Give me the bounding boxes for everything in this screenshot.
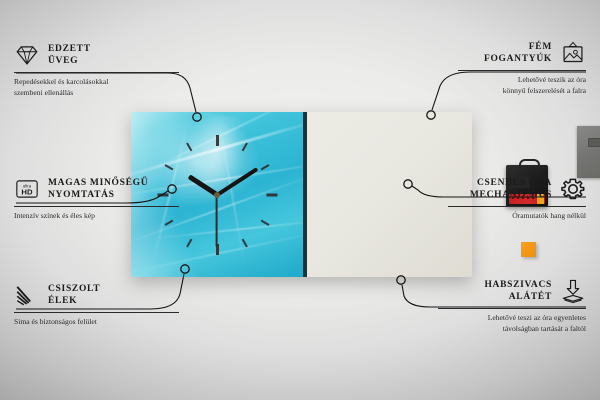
feature-title: EDZETT ÜVEG xyxy=(48,43,91,67)
movement-hanger-loop xyxy=(519,159,540,170)
feature-title-line1: CSISZOLT xyxy=(48,284,100,294)
feature-title-line2: FOGANTYÚK xyxy=(484,54,552,64)
clock-tick xyxy=(242,238,248,247)
svg-text:HD: HD xyxy=(21,188,33,197)
feature-desc-line1: Sima és biztonságos felület xyxy=(14,317,97,326)
metal-hanger-plate xyxy=(577,126,600,178)
feature-csiszolt-elek: CSISZOLT ÉLEK Sima és biztonságos felüle… xyxy=(14,282,179,328)
foam-pad-icon xyxy=(560,278,586,304)
feature-divider xyxy=(458,70,586,71)
clock-tick xyxy=(261,219,270,225)
feature-title-line2: MECHANIZMUS xyxy=(470,190,552,200)
feature-header: CSENDES ÓRA MECHANIZMUS xyxy=(448,176,586,202)
feature-title: CSISZOLT ÉLEK xyxy=(48,283,100,307)
feature-habszivacs-alatet: HABSZIVACS ALÁTÉT Lehetővé teszi az óra … xyxy=(438,278,586,334)
feature-description: Repedésekkel és karcolásokkal szembeni e… xyxy=(14,77,179,98)
feature-divider xyxy=(14,206,179,207)
feature-header: CSISZOLT ÉLEK xyxy=(14,282,179,308)
feature-desc-line1: Óramutatók hang nélkül xyxy=(512,211,586,220)
feature-title-line1: EDZETT xyxy=(48,44,91,54)
hanger-keyhole-slot xyxy=(588,138,600,147)
feature-description: Óramutatók hang nélkül xyxy=(448,211,586,222)
feature-header: FÉM FOGANTYÚK xyxy=(458,40,586,66)
feature-title-line1: HABSZIVACS xyxy=(484,280,552,290)
feature-title-line2: NYOMTATÁS xyxy=(48,190,115,200)
clock-tick xyxy=(186,238,192,247)
feature-title: CSENDES ÓRA MECHANIZMUS xyxy=(470,177,552,201)
feature-header: EDZETT ÜVEG xyxy=(14,42,179,68)
feature-divider xyxy=(438,308,586,309)
feature-title-line1: FÉM xyxy=(529,42,552,52)
feature-edzett-uveg: EDZETT ÜVEG Repedésekkel és karcolásokka… xyxy=(14,42,179,98)
feature-header: HABSZIVACS ALÁTÉT xyxy=(438,278,586,304)
feature-description: Lehetővé teszik az óra könnyű felszerelé… xyxy=(458,75,586,96)
clock-second-hand xyxy=(216,195,218,247)
foam-pad xyxy=(521,242,536,257)
feature-title: HABSZIVACS ALÁTÉT xyxy=(484,279,552,303)
feature-title-line1: CSENDES ÓRA xyxy=(477,178,552,188)
beveled-edges-icon xyxy=(14,282,40,308)
feature-fem-fogantyuk: FÉM FOGANTYÚK Lehetővé teszik az óra kön… xyxy=(458,40,586,96)
feature-csendes-ora-mechanizmus: CSENDES ÓRA MECHANIZMUS Óramutatók hang … xyxy=(448,176,586,222)
ultra-hd-icon: ultra HD xyxy=(14,176,40,202)
feature-desc-line2: szembeni ellenállás xyxy=(14,88,73,97)
feature-title-line2: ALÁTÉT xyxy=(509,292,552,302)
diamond-icon xyxy=(14,42,40,68)
feature-desc-line2: távolságban tartását a faltól xyxy=(503,324,586,333)
feature-title-line2: ÉLEK xyxy=(48,296,77,306)
feature-header: ultra HD MAGAS MINŐSÉGŰ NYOMTATÁS xyxy=(14,176,179,202)
clock-center-cap xyxy=(214,192,220,198)
feature-divider xyxy=(14,72,179,73)
feature-title: MAGAS MINŐSÉGŰ NYOMTATÁS xyxy=(48,177,148,201)
feature-title-line1: MAGAS MINŐSÉGŰ xyxy=(48,178,148,188)
feature-description: Sima és biztonságos felület xyxy=(14,317,179,328)
connector-node-habszivacs xyxy=(397,276,405,284)
feature-desc-line1: Lehetővé teszik az óra xyxy=(518,75,586,84)
clock-tick xyxy=(261,164,270,170)
clock-tick xyxy=(216,135,219,146)
feature-description: Lehetővé teszi az óra egyenletes távolsá… xyxy=(438,313,586,334)
clock-tick xyxy=(266,193,277,196)
product-infographic: EDZETT ÜVEG Repedésekkel és karcolásokka… xyxy=(0,0,600,400)
picture-hanger-icon xyxy=(560,40,586,66)
feature-description: Intenzív színek és éles kép xyxy=(14,211,179,222)
feature-desc-line2: könnyű felszerelését a falra xyxy=(503,86,586,95)
feature-divider xyxy=(14,312,179,313)
feature-magas-minosegu-nyomtatas: ultra HD MAGAS MINŐSÉGŰ NYOMTATÁS Intenz… xyxy=(14,176,179,222)
feature-title: FÉM FOGANTYÚK xyxy=(484,41,552,65)
feature-divider xyxy=(448,206,586,207)
gear-icon xyxy=(560,176,586,202)
product-image xyxy=(131,112,472,277)
feature-desc-line1: Intenzív színek és éles kép xyxy=(14,211,95,220)
feature-desc-line1: Repedésekkel és karcolásokkal xyxy=(14,77,108,86)
feature-desc-line1: Lehetővé teszi az óra egyenletes xyxy=(488,313,586,322)
feature-title-line2: ÜVEG xyxy=(48,56,78,66)
